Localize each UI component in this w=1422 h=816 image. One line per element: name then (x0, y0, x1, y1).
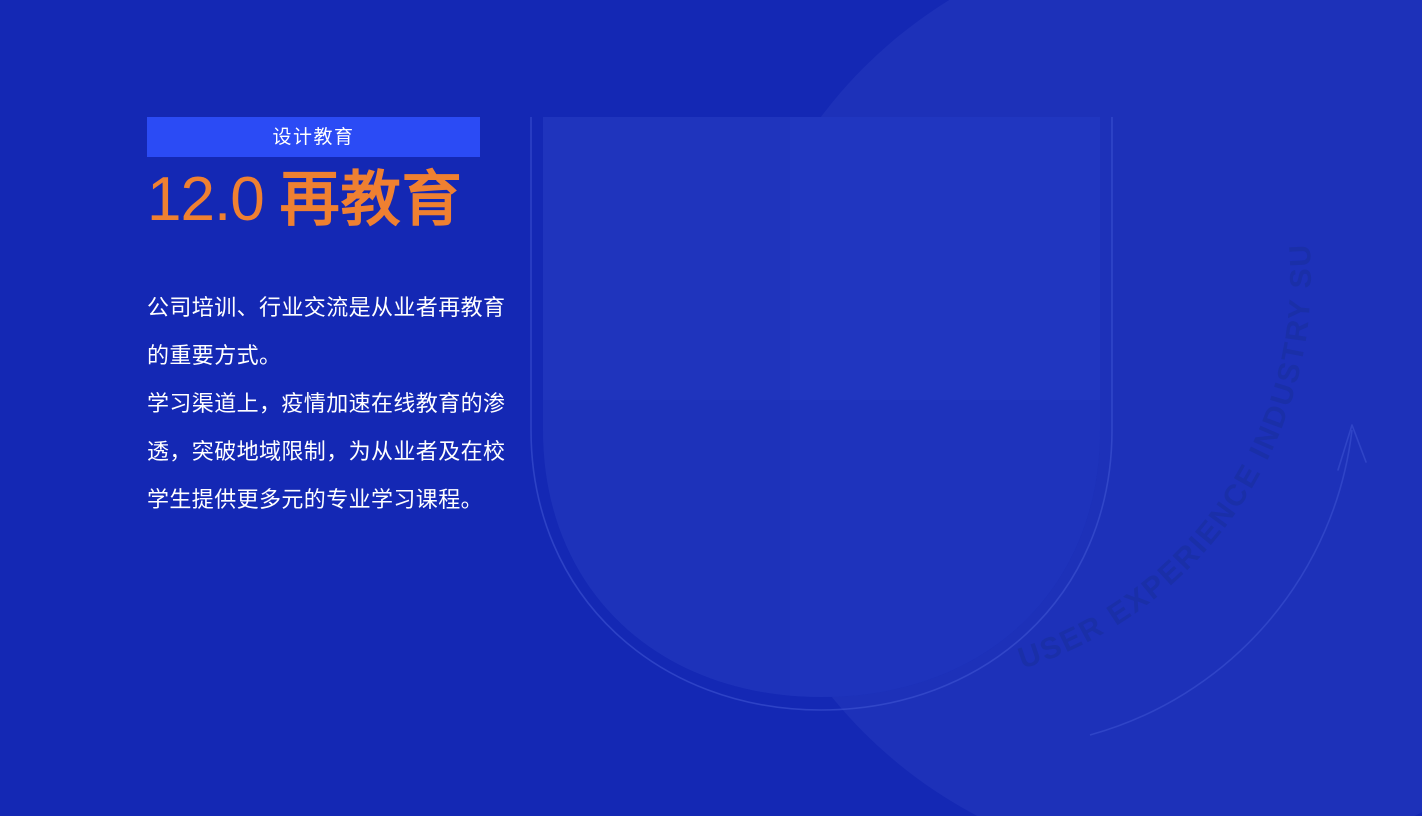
body-paragraph-2: 学习渠道上，疫情加速在线教育的渗透，突破地域限制，为从业者及在校学生提供更多元的… (147, 380, 519, 524)
content-column: 设计教育 12.0 再教育 公司培训、行业交流是从业者再教育的重要方式。 学习渠… (147, 117, 513, 524)
decor-shield-hairline (531, 117, 1112, 710)
decor-arrow-arc (1090, 425, 1366, 735)
eyebrow-badge-label: 设计教育 (272, 128, 354, 147)
eyebrow-badge: 设计教育 (147, 117, 480, 157)
page-title-text: 再教育 (280, 170, 463, 230)
page-title-number: 12.0 (147, 169, 264, 231)
slide-root: USER EXPERIENCE INDUSTRY SURVEY 设计教育 12.… (0, 0, 1422, 816)
decor-shield (543, 117, 1110, 717)
body-copy: 公司培训、行业交流是从业者再教育的重要方式。 学习渠道上，疫情加速在线教育的渗透… (147, 284, 519, 524)
page-title: 12.0 再教育 (147, 169, 513, 231)
body-paragraph-1: 公司培训、行业交流是从业者再教育的重要方式。 (147, 284, 519, 380)
decor-circle (726, 0, 1422, 816)
